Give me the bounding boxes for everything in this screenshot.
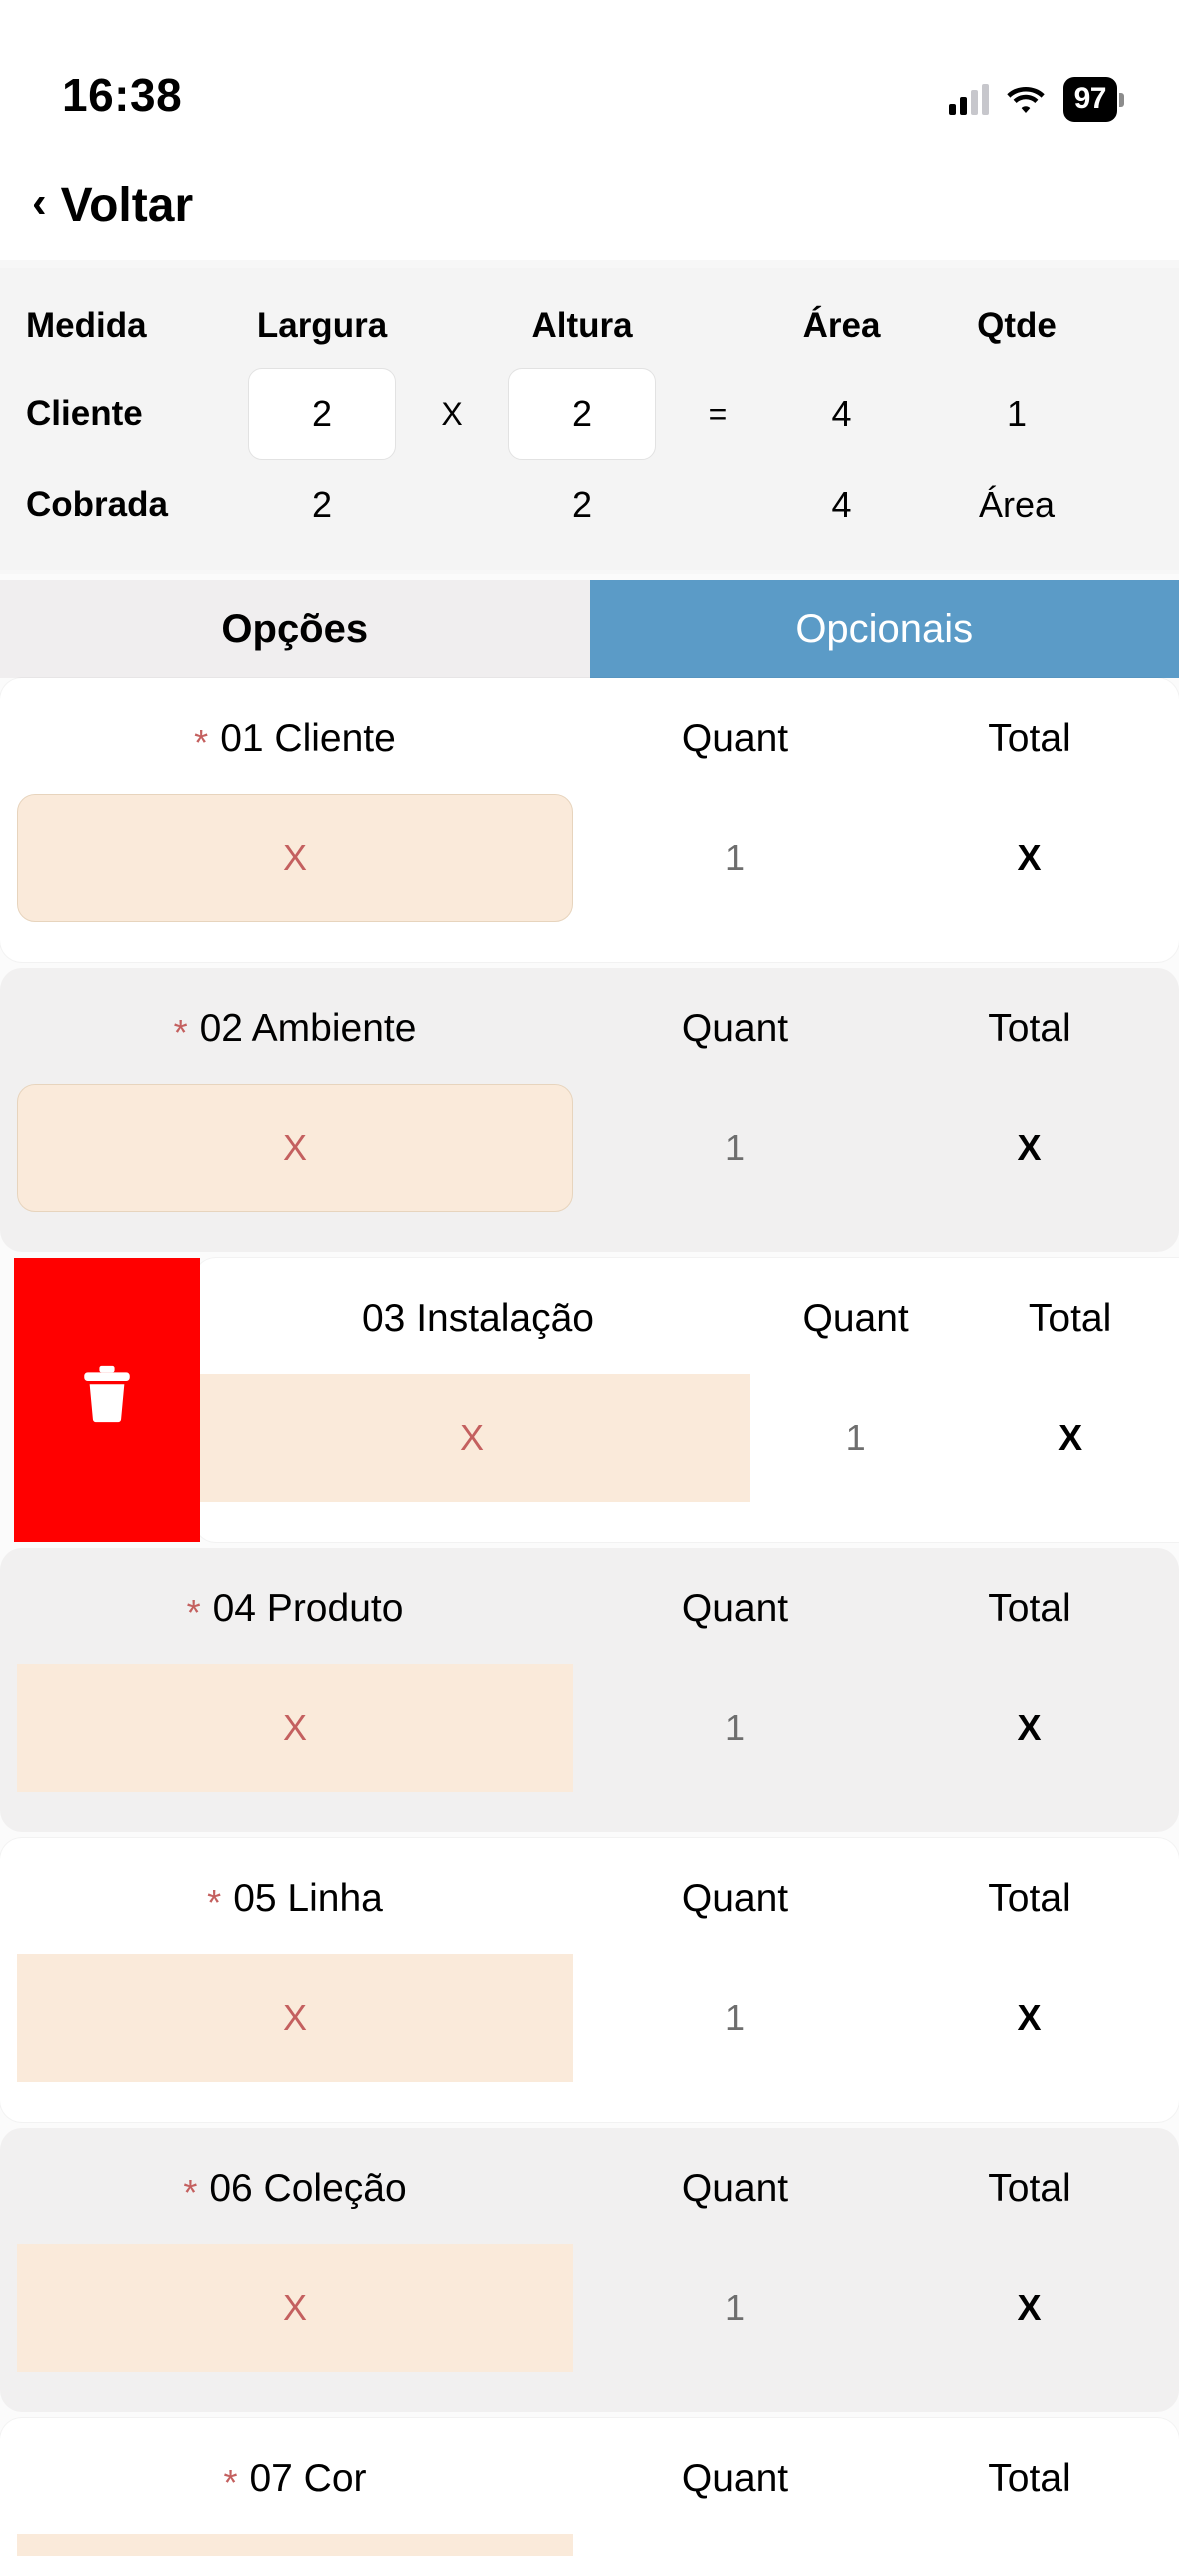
quant-value: 1 — [725, 794, 745, 922]
opcionais-list[interactable]: * 01 Cliente X Quant 1 Total X — [0, 678, 1179, 2556]
measurement-table: Medida Largura Altura Área Qtde Cliente … — [0, 268, 1179, 570]
phone-screen: 16:38 97 ‹ Voltar Medida Largura — [0, 0, 1179, 2556]
measurement-header-row: Medida Largura Altura Área Qtde — [26, 290, 1153, 362]
measurement-section: Medida Largura Altura Área Qtde Cliente … — [0, 260, 1179, 574]
equals-symbol: = — [682, 396, 754, 433]
wifi-icon — [1007, 86, 1045, 114]
remove-swipe-action[interactable] — [14, 1258, 200, 1542]
required-asterisk-icon: * — [187, 1595, 201, 1631]
quant-header: Quant — [682, 2158, 788, 2220]
option-name-label: 03 Instalação — [362, 1297, 594, 1341]
measurement-header-medida: Medida — [26, 306, 222, 346]
measurement-row-cliente-label: Cliente — [26, 394, 222, 434]
total-column: Total X — [880, 1868, 1179, 2082]
option-name-label: 01 Cliente — [220, 717, 396, 761]
quant-header: Quant — [682, 2448, 788, 2510]
required-asterisk-icon: * — [183, 2175, 197, 2211]
list-item-card[interactable]: * 07 Cor X Quant 1 Total X — [0, 2418, 1179, 2556]
option-name-column: * 02 Ambiente X — [0, 998, 590, 1212]
list-item-5[interactable]: * 05 Linha X Quant 1 Total X — [0, 1838, 1179, 2122]
list-item-2[interactable]: * 02 Ambiente X Quant 1 Total X — [0, 968, 1179, 1252]
list-item-6[interactable]: * 06 Coleção X Quant 1 Total X — [0, 2128, 1179, 2412]
total-column: Total X — [880, 2448, 1179, 2556]
measurement-header-altura: Altura — [482, 306, 682, 346]
battery-icon: 97 — [1063, 77, 1117, 122]
cobrada-largura-value: 2 — [222, 484, 422, 526]
total-value: X — [1017, 1954, 1041, 2082]
total-header: Total — [1029, 1288, 1111, 1350]
back-button[interactable]: ‹ Voltar — [32, 178, 193, 233]
option-select[interactable]: X — [17, 1954, 573, 2082]
total-column: Total X — [880, 2158, 1179, 2372]
quant-value: 1 — [725, 2534, 745, 2556]
list-item-1[interactable]: * 01 Cliente X Quant 1 Total X — [0, 678, 1179, 962]
option-name-label: 05 Linha — [233, 1877, 383, 1921]
required-asterisk-icon: * — [207, 1885, 221, 1921]
cobrada-area-value: 4 — [754, 484, 929, 526]
quant-value: 1 — [846, 1374, 866, 1502]
multiply-symbol: X — [422, 396, 482, 433]
quant-header: Quant — [682, 708, 788, 770]
quant-column: Quant 1 — [590, 2448, 880, 2556]
tabs-section: Opções Opcionais — [0, 574, 1179, 678]
quant-header: Quant — [682, 1578, 788, 1640]
list-item-card[interactable]: * 04 Produto X Quant 1 Total X — [0, 1548, 1179, 1832]
total-header: Total — [988, 1868, 1070, 1930]
list-item-7[interactable]: * 07 Cor X Quant 1 Total X — [0, 2418, 1179, 2556]
tab-opcoes[interactable]: Opções — [0, 580, 590, 678]
total-value: X — [1017, 1084, 1041, 1212]
option-name-label: 02 Ambiente — [200, 1007, 417, 1051]
quant-value: 1 — [725, 1664, 745, 1792]
option-title: * 06 Coleção — [183, 2158, 406, 2220]
cellular-signal-icon — [949, 85, 989, 115]
status-bar-indicators: 97 — [949, 77, 1117, 122]
total-column: Total X — [880, 708, 1179, 922]
list-item-card[interactable]: 03 Instalação X Quant 1 Total X — [194, 1258, 1179, 1542]
option-name-label: 06 Coleção — [209, 2167, 406, 2211]
trash-icon — [81, 1365, 133, 1423]
total-header: Total — [988, 2158, 1070, 2220]
option-title: * 04 Produto — [187, 1578, 404, 1640]
option-select[interactable]: X — [194, 1374, 750, 1502]
list-item-card[interactable]: * 06 Coleção X Quant 1 Total X — [0, 2128, 1179, 2412]
measurement-header-largura: Largura — [222, 306, 422, 346]
required-asterisk-icon: * — [194, 725, 208, 761]
option-title: * 07 Cor — [223, 2448, 366, 2510]
list-item-card[interactable]: * 02 Ambiente X Quant 1 Total X — [0, 968, 1179, 1252]
total-column: Total X — [880, 998, 1179, 1212]
total-column: Total X — [880, 1578, 1179, 1792]
option-select[interactable]: X — [17, 2534, 573, 2556]
measurement-row-cobrada-label: Cobrada — [26, 485, 222, 525]
measurement-header-area: Área — [754, 306, 929, 346]
option-title: * 02 Ambiente — [174, 998, 417, 1060]
total-header: Total — [988, 1578, 1070, 1640]
option-title: 03 Instalação — [350, 1288, 594, 1350]
quant-column: Quant 1 — [590, 1578, 880, 1792]
total-value: X — [1058, 1374, 1082, 1502]
altura-input[interactable]: 2 — [508, 368, 656, 460]
option-name-column: * 05 Linha X — [0, 1868, 590, 2082]
quant-value: 1 — [725, 1084, 745, 1212]
quant-column: Quant 1 — [590, 2158, 880, 2372]
list-item-4[interactable]: * 04 Produto X Quant 1 Total X — [0, 1548, 1179, 1832]
list-item-card[interactable]: * 05 Linha X Quant 1 Total X — [0, 1838, 1179, 2122]
chevron-left-icon: ‹ — [32, 181, 47, 225]
cobrada-qtde-value: Área — [929, 484, 1105, 526]
quant-column: Quant 1 — [750, 1288, 961, 1502]
quant-header: Quant — [802, 1288, 908, 1350]
option-name-column: * 07 Cor X — [0, 2448, 590, 2556]
largura-input[interactable]: 2 — [248, 368, 396, 460]
required-asterisk-icon: * — [223, 2465, 237, 2501]
tab-bar: Opções Opcionais — [0, 580, 1179, 678]
option-select[interactable]: X — [17, 1084, 573, 1212]
quant-column: Quant 1 — [590, 708, 880, 922]
list-item-card[interactable]: * 01 Cliente X Quant 1 Total X — [0, 678, 1179, 962]
quant-value: 1 — [725, 1954, 745, 2082]
measurement-header-qtde: Qtde — [929, 306, 1105, 346]
cliente-qtde-value: 1 — [929, 393, 1105, 435]
option-select[interactable]: X — [17, 1664, 573, 1792]
option-name-column: * 06 Coleção X — [0, 2158, 590, 2372]
navigation-bar: ‹ Voltar — [0, 150, 1179, 260]
total-value: X — [1017, 2244, 1041, 2372]
tab-opcionais[interactable]: Opcionais — [590, 580, 1179, 678]
total-header: Total — [988, 998, 1070, 1060]
option-name-column: 03 Instalação X — [194, 1288, 750, 1502]
total-value: X — [1017, 794, 1041, 922]
cliente-area-value: 4 — [754, 393, 929, 435]
option-name-column: * 01 Cliente X — [0, 708, 590, 922]
option-name-label: 07 Cor — [249, 2457, 366, 2501]
measurement-row-cobrada: Cobrada 2 2 4 Área — [26, 466, 1153, 544]
total-header: Total — [988, 2448, 1070, 2510]
status-bar-clock: 16:38 — [62, 68, 182, 122]
back-button-label: Voltar — [61, 178, 193, 233]
quant-column: Quant 1 — [590, 998, 880, 1212]
quant-header: Quant — [682, 998, 788, 1060]
option-title: * 01 Cliente — [194, 708, 396, 770]
total-header: Total — [988, 708, 1070, 770]
option-name-label: 04 Produto — [213, 1587, 404, 1631]
quant-value: 1 — [725, 2244, 745, 2372]
measurement-row-cliente: Cliente 2 X 2 = 4 1 — [26, 362, 1153, 466]
option-select[interactable]: X — [17, 794, 573, 922]
cobrada-altura-value: 2 — [482, 484, 682, 526]
option-title: * 05 Linha — [207, 1868, 383, 1930]
option-select[interactable]: X — [17, 2244, 573, 2372]
status-bar: 16:38 97 — [0, 0, 1179, 150]
option-name-column: * 04 Produto X — [0, 1578, 590, 1792]
total-column: Total X — [961, 1288, 1179, 1502]
total-value: X — [1017, 2534, 1041, 2556]
list-item-3[interactable]: 03 Instalação X Quant 1 Total X — [0, 1258, 1179, 1542]
quant-column: Quant 1 — [590, 1868, 880, 2082]
total-value: X — [1017, 1664, 1041, 1792]
required-asterisk-icon: * — [174, 1015, 188, 1051]
quant-header: Quant — [682, 1868, 788, 1930]
